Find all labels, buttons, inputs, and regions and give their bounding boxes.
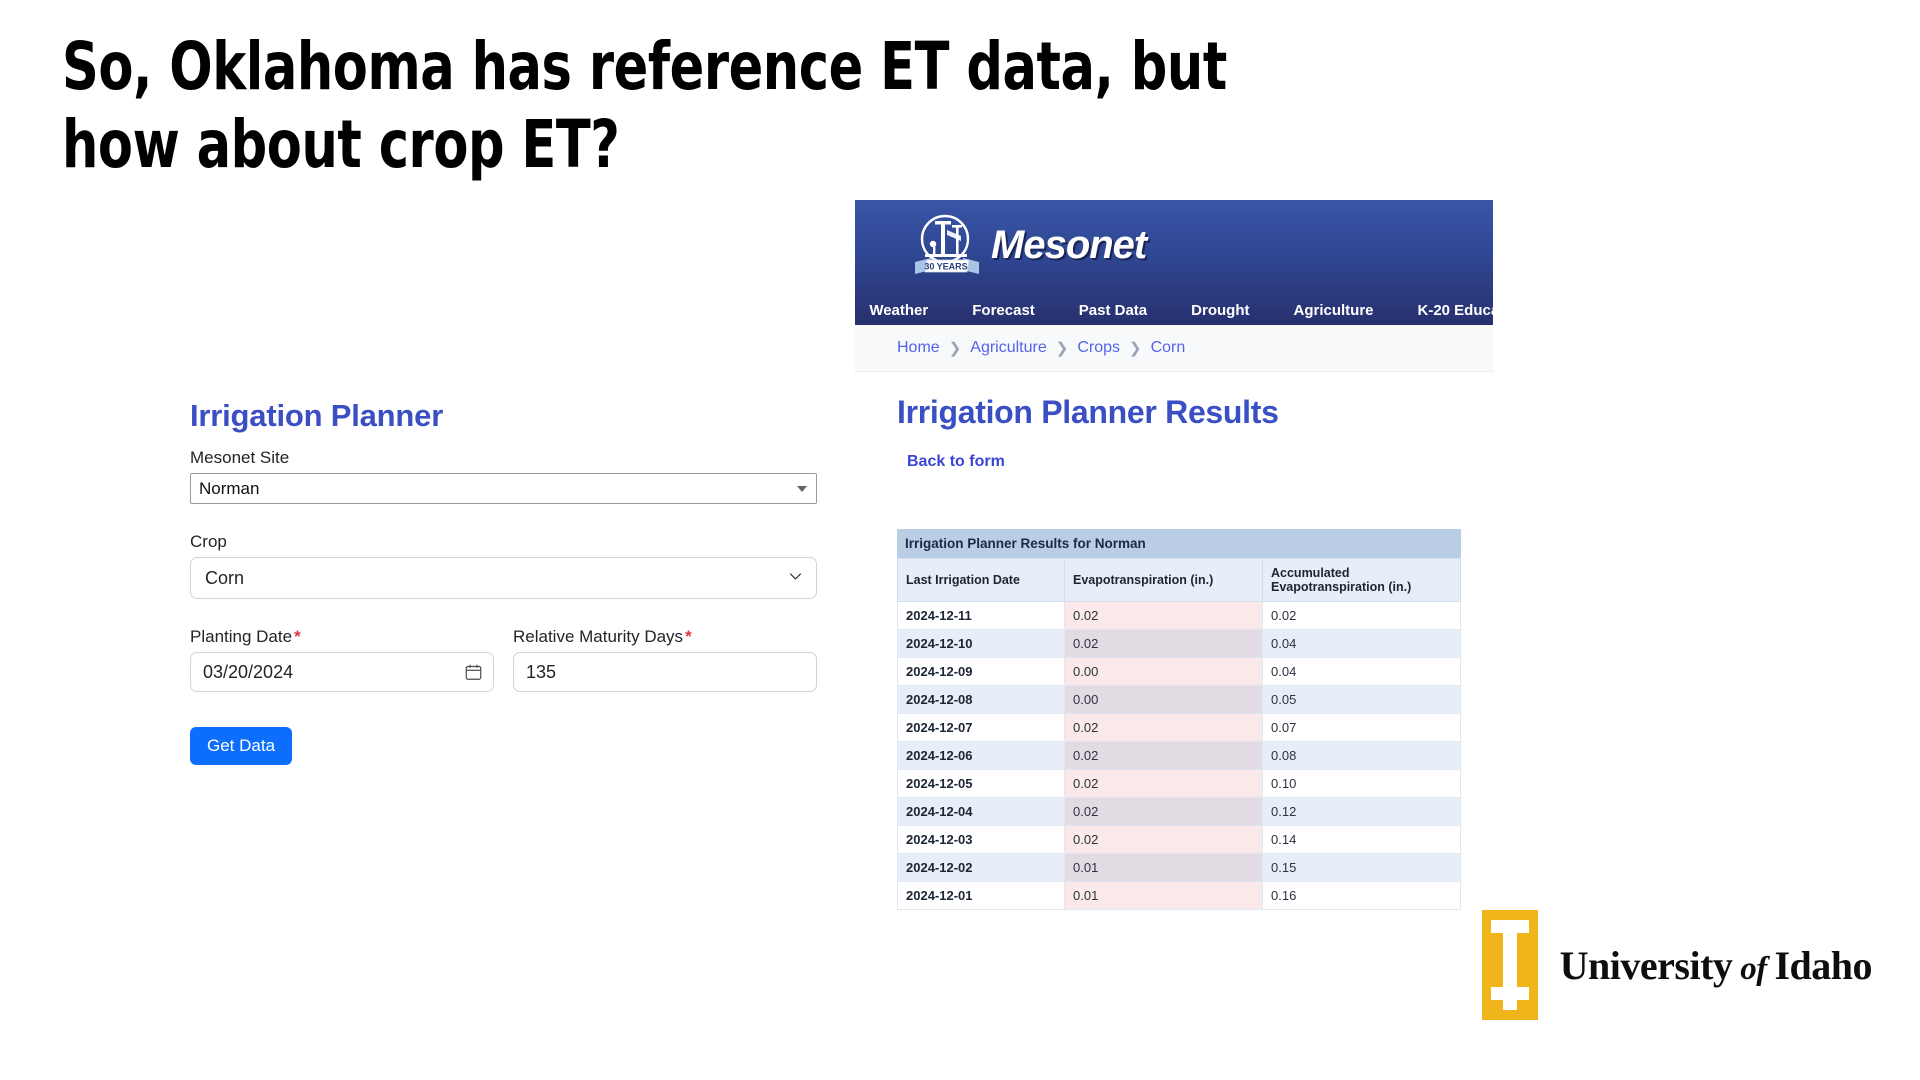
chevron-right-icon: ❯ [1129,339,1142,357]
cell-last-irrigation-date: 2024-12-11 [898,602,1065,630]
crop-value: Corn [205,568,244,589]
cell-last-irrigation-date: 2024-12-09 [898,658,1065,686]
get-data-button[interactable]: Get Data [190,727,292,765]
table-row: 2024-12-040.020.12 [898,798,1461,826]
maturity-days-value: 135 [526,662,556,683]
cell-accumulated-et: 0.12 [1263,798,1461,826]
back-to-form-link[interactable]: Back to form [907,453,1005,471]
mesonet-page: 30 YEARS Mesonet Weather Forecast Past D… [855,200,1493,910]
cell-evapotranspiration: 0.02 [1065,770,1263,798]
irrigation-planner-form: Irrigation Planner Mesonet Site Norman C… [190,398,830,765]
table-row: 2024-12-070.020.07 [898,714,1461,742]
university-of-idaho-wordmark: University of Idaho [1560,942,1872,989]
breadcrumb-item-agriculture[interactable]: Agriculture [970,339,1046,357]
nav-item-forecast[interactable]: Forecast [950,302,1057,319]
cell-evapotranspiration: 0.02 [1065,826,1263,854]
column-header-evapotranspiration[interactable]: Evapotranspiration (in.) [1065,559,1263,602]
table-row: 2024-12-010.010.16 [898,882,1461,910]
cell-accumulated-et: 0.14 [1263,826,1461,854]
breadcrumb: Home ❯ Agriculture ❯ Crops ❯ Corn [855,325,1493,372]
results-table-container: Irrigation Planner Results for Norman La… [897,529,1451,910]
cell-evapotranspiration: 0.02 [1065,798,1263,826]
planting-date-value: 03/20/2024 [203,662,293,683]
maturity-days-field: Relative Maturity Days* 135 [513,627,817,692]
cell-accumulated-et: 0.05 [1263,686,1461,714]
wordmark-university: University [1560,943,1733,988]
required-asterisk: * [292,627,301,646]
results-body: Irrigation Planner Results Back to form … [855,394,1493,910]
planting-date-label-text: Planting Date [190,627,292,646]
cell-evapotranspiration: 0.02 [1065,602,1263,630]
crop-select[interactable]: Corn [190,557,817,599]
mesonet-logo[interactable]: 30 YEARS Mesonet [911,210,1146,276]
column-header-last-irrigation-date[interactable]: Last Irrigation Date [898,559,1065,602]
table-head: Last Irrigation Date Evapotranspiration … [898,559,1461,602]
page-title: So, Oklahoma has reference ET data, but … [62,28,1369,184]
cell-last-irrigation-date: 2024-12-03 [898,826,1065,854]
ribbon-text: 30 YEARS [924,262,967,272]
maturity-days-input[interactable]: 135 [513,652,817,692]
planting-date-input[interactable]: 03/20/2024 [190,652,494,692]
chevron-right-icon: ❯ [949,339,962,357]
table-row: 2024-12-080.000.05 [898,686,1461,714]
cell-evapotranspiration: 0.02 [1065,742,1263,770]
cell-accumulated-et: 0.07 [1263,714,1461,742]
mesonet-nav: Weather Forecast Past Data Drought Agric… [855,302,1493,319]
mesonet-site-select[interactable]: Norman [190,473,817,504]
planting-date-field: Planting Date* 03/20/2024 [190,627,494,692]
table-row: 2024-12-030.020.14 [898,826,1461,854]
chevron-down-icon [789,570,802,583]
cell-last-irrigation-date: 2024-12-07 [898,714,1065,742]
crop-label: Crop [190,532,830,552]
table-row: 2024-12-100.020.04 [898,630,1461,658]
cell-evapotranspiration: 0.00 [1065,686,1263,714]
table-row: 2024-12-060.020.08 [898,742,1461,770]
form-heading: Irrigation Planner [190,398,830,434]
irrigation-results-table: Irrigation Planner Results for Norman La… [897,529,1461,910]
nav-item-drought[interactable]: Drought [1169,302,1271,319]
wordmark-of: of [1732,951,1774,987]
cell-last-irrigation-date: 2024-12-01 [898,882,1065,910]
mesonet-wordmark: Mesonet [991,225,1146,265]
date-maturity-row: Planting Date* 03/20/2024 Relative Matur… [190,627,830,692]
nav-item-weather[interactable]: Weather [855,302,950,319]
calendar-icon[interactable] [465,664,482,681]
mesonet-site-label: Mesonet Site [190,448,830,468]
spacer [190,599,830,627]
required-asterisk: * [683,627,692,646]
cell-accumulated-et: 0.15 [1263,854,1461,882]
cell-last-irrigation-date: 2024-12-04 [898,798,1065,826]
table-row: 2024-12-050.020.10 [898,770,1461,798]
cell-accumulated-et: 0.16 [1263,882,1461,910]
cell-evapotranspiration: 0.02 [1065,714,1263,742]
cell-accumulated-et: 0.10 [1263,770,1461,798]
nav-item-past-data[interactable]: Past Data [1057,302,1169,319]
cell-last-irrigation-date: 2024-12-08 [898,686,1065,714]
breadcrumb-item-home[interactable]: Home [897,339,940,357]
spacer [190,504,830,532]
chevron-down-icon [797,486,807,492]
cell-last-irrigation-date: 2024-12-02 [898,854,1065,882]
table-header-row: Last Irrigation Date Evapotranspiration … [898,559,1461,602]
table-caption: Irrigation Planner Results for Norman [897,529,1461,558]
cell-last-irrigation-date: 2024-12-05 [898,770,1065,798]
mesonet-header: 30 YEARS Mesonet Weather Forecast Past D… [855,200,1493,325]
results-heading: Irrigation Planner Results [897,394,1451,431]
cell-evapotranspiration: 0.01 [1065,854,1263,882]
table-row: 2024-12-020.010.15 [898,854,1461,882]
chevron-right-icon: ❯ [1056,339,1069,357]
cell-accumulated-et: 0.08 [1263,742,1461,770]
breadcrumb-item-crops[interactable]: Crops [1077,339,1120,357]
cell-evapotranspiration: 0.01 [1065,882,1263,910]
mesonet-site-value: Norman [199,479,259,499]
nav-item-k20-education[interactable]: K-20 Education [1396,302,1494,319]
idaho-block-i-icon [1482,910,1538,1020]
maturity-days-label-text: Relative Maturity Days [513,627,683,646]
column-header-accumulated-et[interactable]: Accumulated Evapotranspiration (in.) [1263,559,1461,602]
wordmark-idaho: Idaho [1774,943,1872,988]
table-row: 2024-12-090.000.04 [898,658,1461,686]
nav-item-agriculture[interactable]: Agriculture [1271,302,1395,319]
cell-accumulated-et: 0.04 [1263,658,1461,686]
table-body: 2024-12-110.020.022024-12-100.020.042024… [898,602,1461,910]
university-of-idaho-logo: University of Idaho [1482,910,1872,1020]
cell-accumulated-et: 0.02 [1263,602,1461,630]
slide-canvas: So, Oklahoma has reference ET data, but … [0,0,1920,1080]
cell-evapotranspiration: 0.02 [1065,630,1263,658]
cell-last-irrigation-date: 2024-12-10 [898,630,1065,658]
table-row: 2024-12-110.020.02 [898,602,1461,630]
cell-accumulated-et: 0.04 [1263,630,1461,658]
mesonet-emblem-icon: 30 YEARS [911,210,983,276]
breadcrumb-item-corn[interactable]: Corn [1151,339,1186,357]
cell-evapotranspiration: 0.00 [1065,658,1263,686]
planting-date-label: Planting Date* [190,627,494,647]
cell-last-irrigation-date: 2024-12-06 [898,742,1065,770]
maturity-days-label: Relative Maturity Days* [513,627,817,647]
